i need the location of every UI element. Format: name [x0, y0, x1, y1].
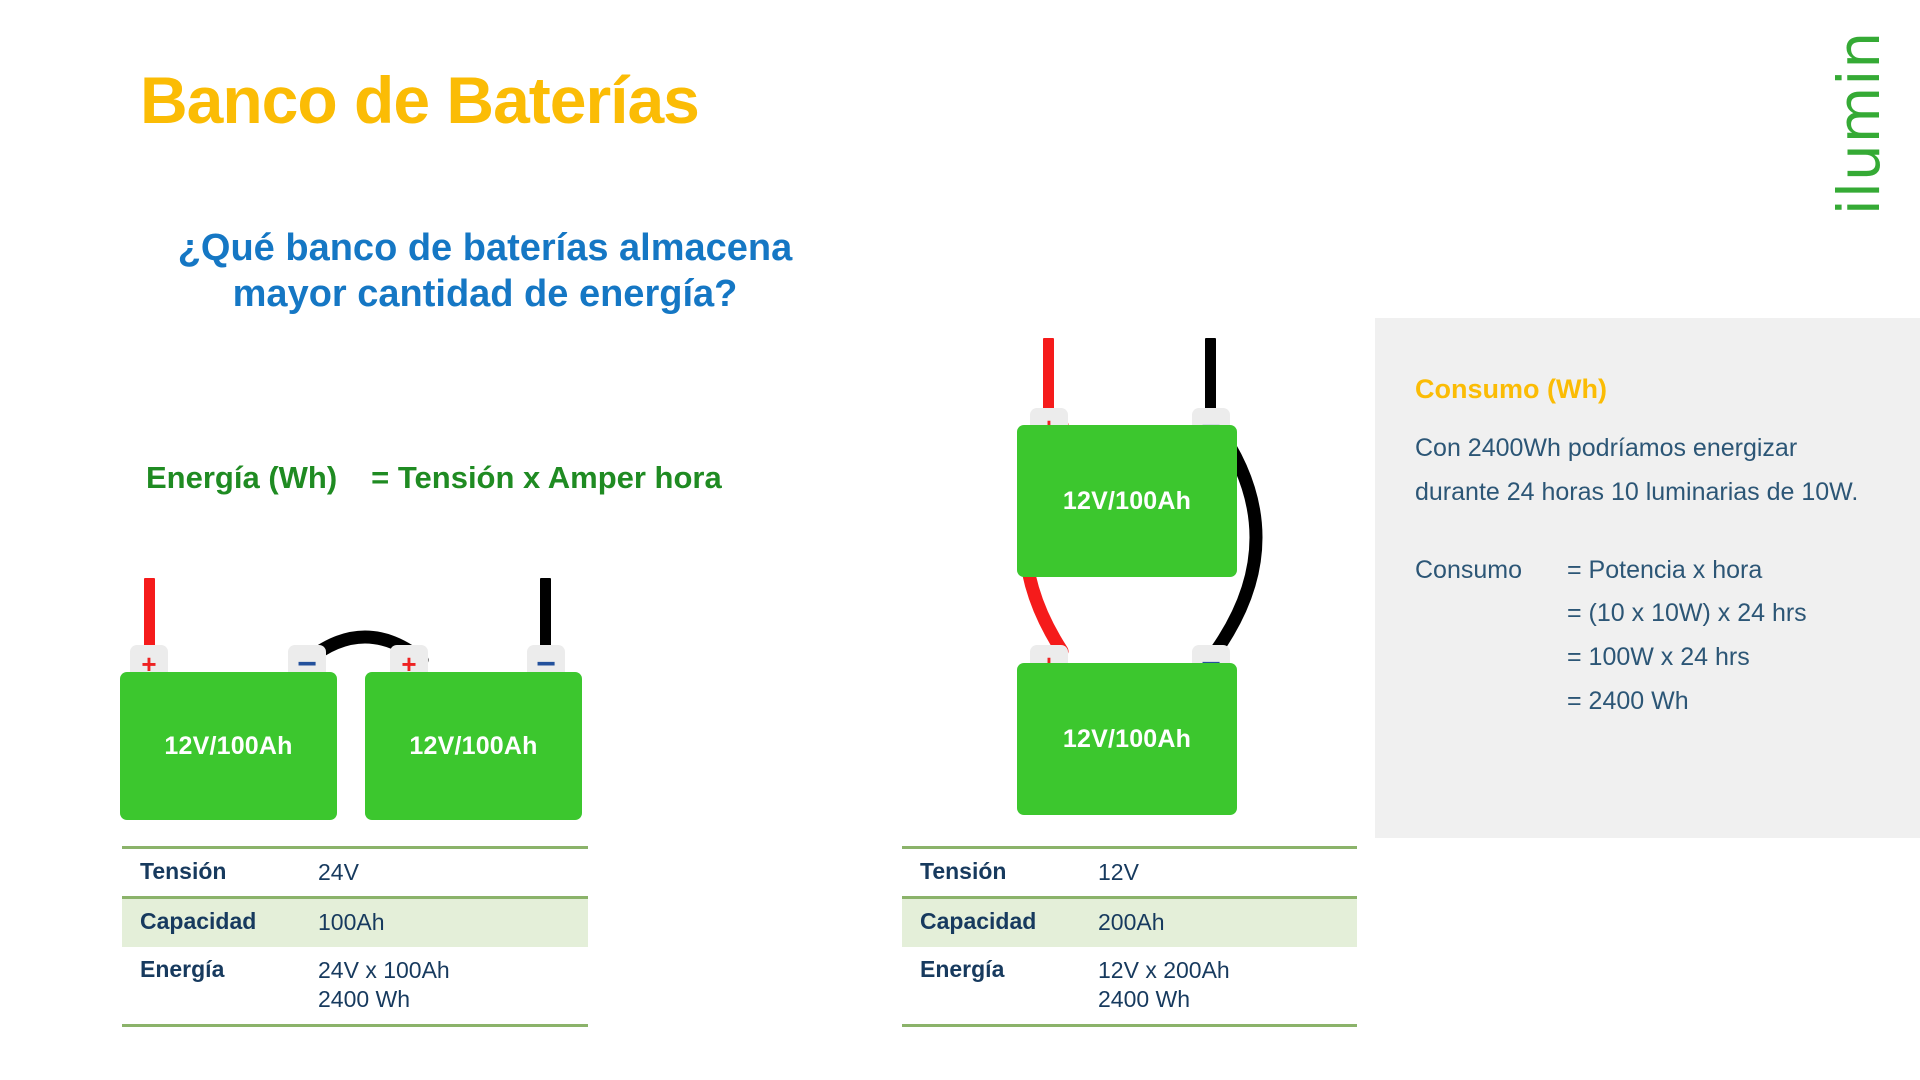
calc-row: = (10 x 10W) x 24 hrs	[1415, 592, 1880, 636]
parallel-battery-2: 12V/100Ah	[1017, 663, 1237, 815]
page-title: Banco de Baterías	[140, 62, 699, 138]
question-heading: ¿Qué banco de baterías almacena mayor ca…	[140, 225, 830, 318]
calc-row: = 2400 Wh	[1415, 680, 1880, 724]
calc-expression: = 100W x 24 hrs	[1567, 636, 1880, 680]
brand-logo: ilumin	[1804, 8, 1914, 238]
row-value: 200Ah	[1098, 908, 1165, 937]
calc-expression: = 2400 Wh	[1567, 680, 1880, 724]
calc-label-spacer	[1415, 592, 1567, 636]
row-key: Tensión	[140, 858, 318, 885]
series-battery-2: 12V/100Ah	[365, 672, 582, 820]
parallel-positive-lead	[1043, 338, 1054, 416]
consumption-description: Con 2400Wh podríamos energizar durante 2…	[1415, 427, 1880, 515]
row-key: Capacidad	[920, 908, 1098, 935]
energy-formula: Energía (Wh)= Tensión x Amper hora	[146, 460, 722, 496]
table-row: Tensión 24V	[122, 849, 588, 896]
table-row: Capacidad 100Ah	[122, 899, 588, 946]
series-positive-lead	[144, 578, 155, 650]
calc-row: Consumo = Potencia x hora	[1415, 549, 1880, 593]
consumption-panel: Consumo (Wh) Con 2400Wh podríamos energi…	[1375, 318, 1920, 838]
consumption-title: Consumo (Wh)	[1415, 374, 1880, 405]
row-value: 24V	[318, 858, 359, 887]
row-value: 100Ah	[318, 908, 385, 937]
row-key: Tensión	[920, 858, 1098, 885]
series-battery-1: 12V/100Ah	[120, 672, 337, 820]
parallel-spec-table: Tensión 12V Capacidad 200Ah Energía 12V …	[902, 846, 1357, 1027]
calc-label-spacer	[1415, 636, 1567, 680]
row-value: 12V	[1098, 858, 1139, 887]
series-spec-table: Tensión 24V Capacidad 100Ah Energía 24V …	[122, 846, 588, 1027]
table-row: Energía 12V x 200Ah 2400 Wh	[902, 947, 1357, 1024]
row-value: 24V x 100Ah 2400 Wh	[318, 956, 450, 1015]
table-row: Tensión 12V	[902, 849, 1357, 896]
consumption-calculation: Consumo = Potencia x hora = (10 x 10W) x…	[1415, 549, 1880, 724]
energy-formula-right: = Tensión x Amper hora	[371, 460, 722, 495]
calc-label: Consumo	[1415, 549, 1567, 593]
calc-row: = 100W x 24 hrs	[1415, 636, 1880, 680]
row-key: Energía	[140, 956, 318, 983]
row-key: Energía	[920, 956, 1098, 983]
row-key: Capacidad	[140, 908, 318, 935]
calc-expression: = (10 x 10W) x 24 hrs	[1567, 592, 1880, 636]
table-row: Capacidad 200Ah	[902, 899, 1357, 946]
brand-logo-text: ilumin	[1825, 31, 1893, 215]
row-value: 12V x 200Ah 2400 Wh	[1098, 956, 1230, 1015]
table-row: Energía 24V x 100Ah 2400 Wh	[122, 947, 588, 1024]
table-rule-bottom	[902, 1024, 1357, 1027]
calc-label-spacer	[1415, 680, 1567, 724]
calc-expression: = Potencia x hora	[1567, 549, 1880, 593]
parallel-battery-1: 12V/100Ah	[1017, 425, 1237, 577]
energy-formula-left: Energía (Wh)	[146, 460, 337, 495]
series-negative-lead	[540, 578, 551, 650]
parallel-negative-lead	[1205, 338, 1216, 416]
table-rule-bottom	[122, 1024, 588, 1027]
